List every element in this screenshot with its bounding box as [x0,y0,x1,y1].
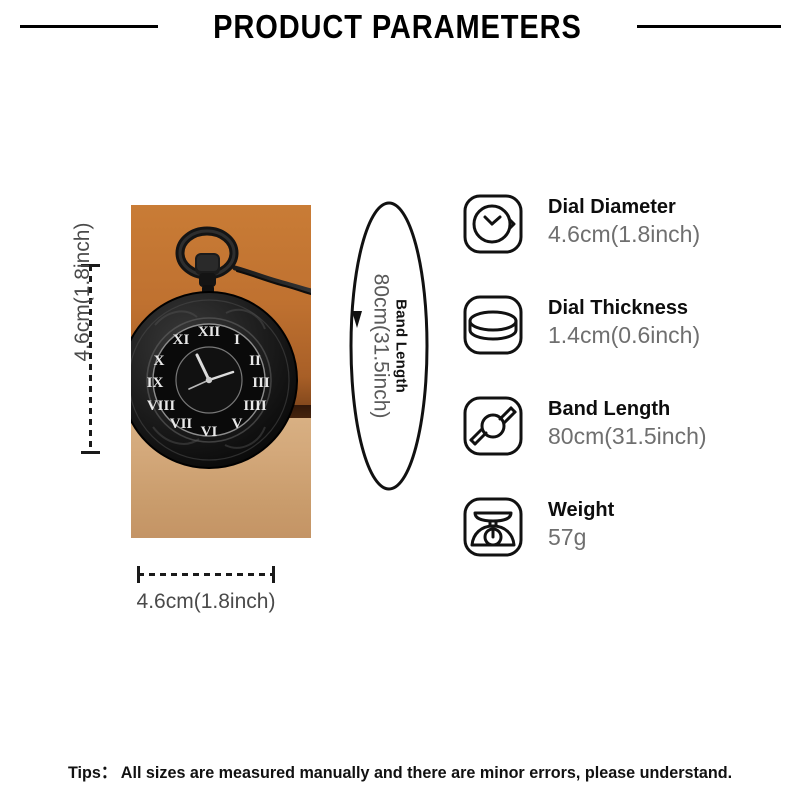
svg-text:XII: XII [198,324,221,340]
spec-list: Dial Diameter 4.6cm(1.8inch) Dial Thickn… [462,193,782,597]
header-rule-right [637,25,781,28]
tips-note: Tips：All sizes are measured manually and… [20,758,780,783]
width-dimension-line [138,573,274,576]
svg-text:II: II [249,353,261,369]
band-length-loop-text: Band Length 80cm(31.5inch) [334,198,444,494]
kitchen-scale-icon [462,496,524,558]
width-dimension-label: 4.6cm(1.8inch) [96,590,316,614]
svg-text:III: III [252,375,270,391]
svg-text:IX: IX [147,375,164,391]
page-title: PRODUCT PARAMETERS [213,10,582,43]
svg-text:VI: VI [201,424,218,440]
pocket-watch-illustration: XII I II III IIII V VI VII VIII IX X XI [131,205,311,538]
height-dimension-cap-bottom [81,451,100,454]
spec-row-dial-diameter: Dial Diameter 4.6cm(1.8inch) [462,193,782,294]
spec-label-band-length: Band Length [548,397,707,422]
band-length-loop-value: 80cm(31.5inch) [370,274,392,419]
tips-label: Tips： [68,763,117,782]
spec-row-band-length: Band Length 80cm(31.5inch) [462,395,782,496]
spec-value-dial-diameter: 4.6cm(1.8inch) [548,220,700,248]
spec-value-band-length: 80cm(31.5inch) [548,422,707,450]
watch-band-icon [462,395,524,457]
width-dimension-cap-left [137,566,140,583]
svg-text:XI: XI [173,332,190,348]
svg-text:I: I [234,332,240,348]
product-photo-image: XII I II III IIII V VI VII VIII IX X XI [131,205,311,538]
spec-label-dial-thickness: Dial Thickness [548,296,700,321]
spec-label-dial-diameter: Dial Diameter [548,195,700,220]
height-dimension-label: 4.6cm(1.8inch) [71,182,95,402]
svg-text:V: V [232,416,243,432]
tips-text: All sizes are measured manually and ther… [121,763,732,782]
watch-dial-icon [462,193,524,255]
spec-value-weight: 57g [548,523,614,551]
spec-value-dial-thickness: 1.4cm(0.6inch) [548,321,700,349]
svg-text:VII: VII [170,416,193,432]
page-header: PRODUCT PARAMETERS [0,0,800,52]
spec-row-dial-thickness: Dial Thickness 1.4cm(0.6inch) [462,294,782,395]
svg-text:IIII: IIII [243,398,267,414]
product-photo: XII I II III IIII V VI VII VIII IX X XI [131,205,311,538]
svg-text:X: X [154,353,165,369]
disc-thickness-icon [462,294,524,356]
band-length-loop-label: Band Length [393,274,409,419]
width-dimension-cap-right [272,566,275,583]
spec-label-weight: Weight [548,498,614,523]
svg-text:VIII: VIII [147,398,176,414]
header-rule-left [20,25,158,28]
spec-row-weight: Weight 57g [462,496,782,597]
